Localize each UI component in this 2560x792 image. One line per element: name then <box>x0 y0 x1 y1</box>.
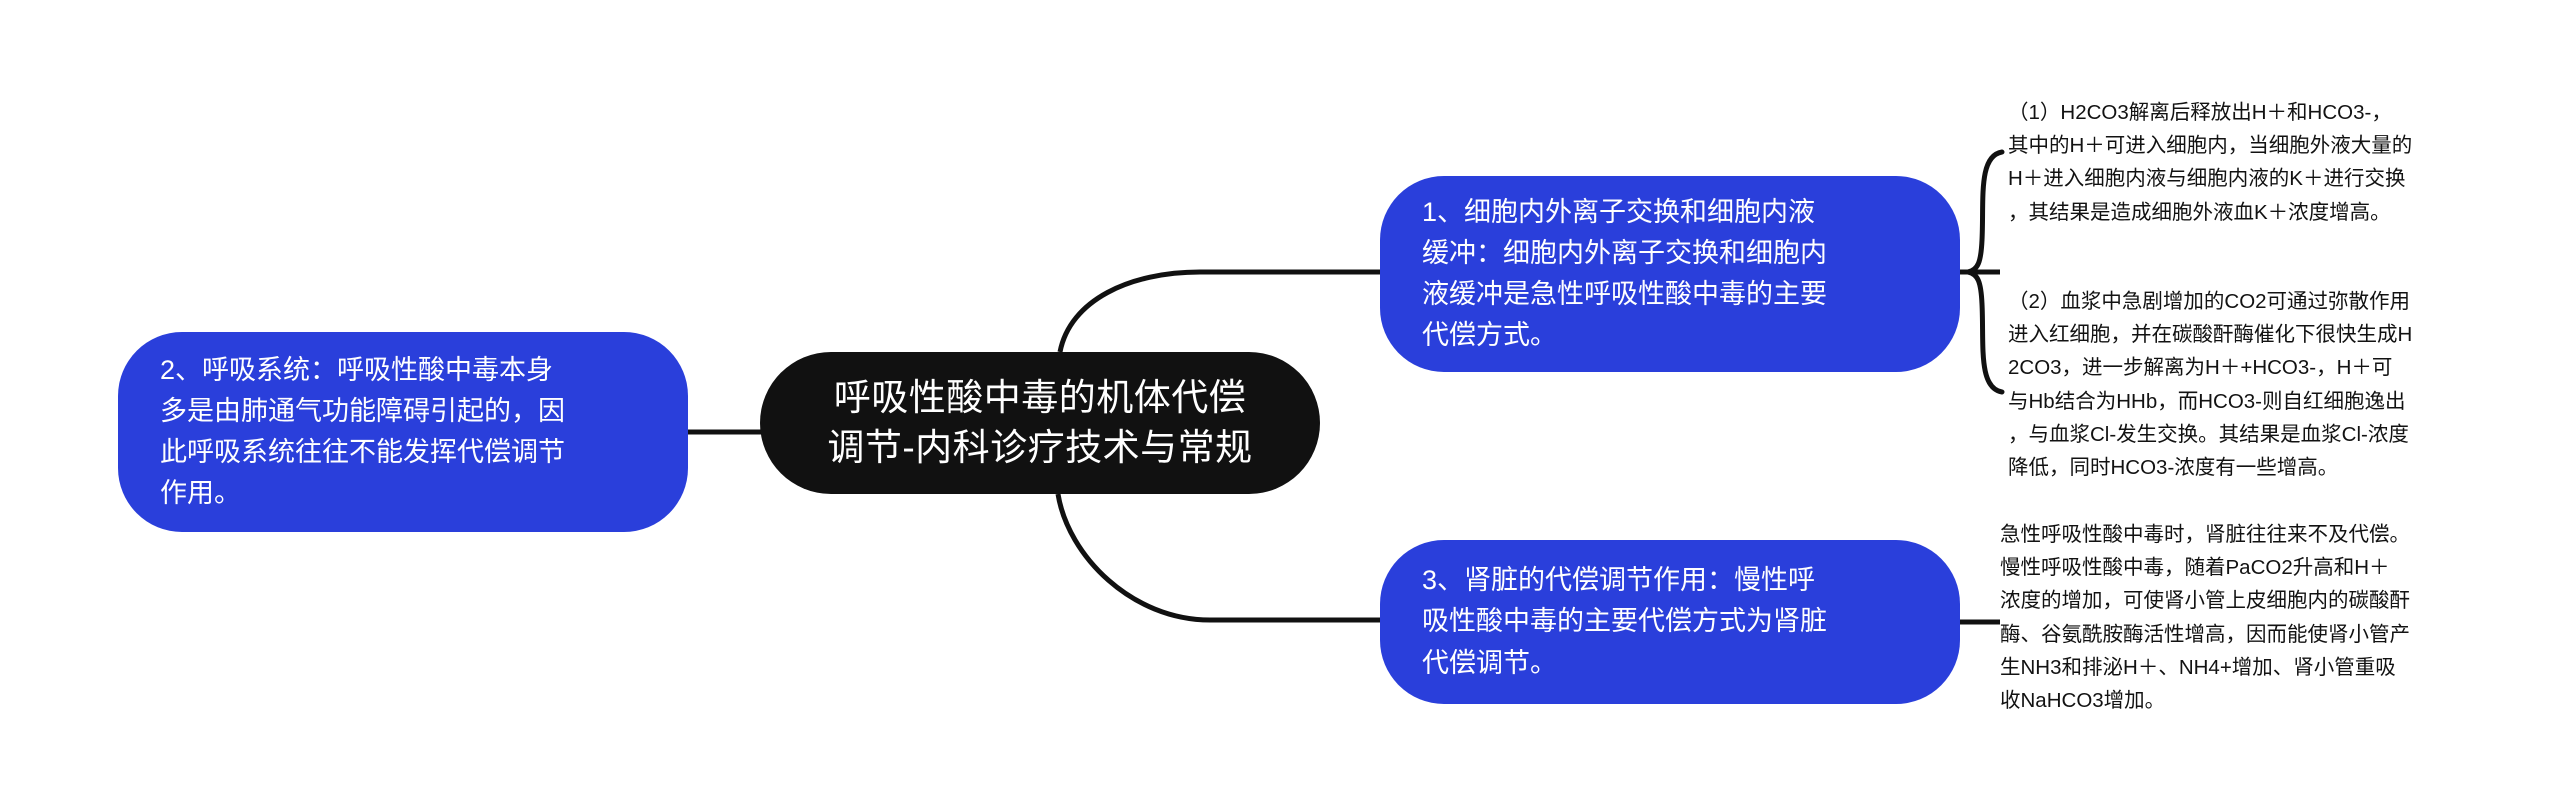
edge-root-to-branch-1 <box>1060 272 1384 352</box>
branch-node-renal-compensation-label: 3、肾脏的代偿调节作用：慢性呼 吸性酸中毒的主要代偿方式为肾脏 代偿调节。 <box>1422 560 1918 683</box>
mindmap-canvas: 呼吸性酸中毒的机体代偿 调节-内科诊疗技术与常规 2、呼吸系统：呼吸性酸中毒本身… <box>0 0 2560 792</box>
root-node[interactable]: 呼吸性酸中毒的机体代偿 调节-内科诊疗技术与常规 <box>760 352 1320 494</box>
branch-node-renal-compensation[interactable]: 3、肾脏的代偿调节作用：慢性呼 吸性酸中毒的主要代偿方式为肾脏 代偿调节。 <box>1380 540 1960 704</box>
root-node-label: 呼吸性酸中毒的机体代偿 调节-内科诊疗技术与常规 <box>760 373 1320 474</box>
branch-node-respiratory-system[interactable]: 2、呼吸系统：呼吸性酸中毒本身 多是由肺通气功能障碍引起的，因 此呼吸系统往往不… <box>118 332 688 532</box>
edge-brace-branch-1 <box>1968 152 2002 392</box>
leaf-text-plasma-co2-diffusion: （2）血浆中急剧增加的CO2可通过弥散作用 进入红细胞，并在碳酸酐酶催化下很快生… <box>2008 285 2528 484</box>
leaf-text-h2co3-dissociation: （1）H2CO3解离后释放出H＋和HCO3-， 其中的H＋可进入细胞内，当细胞外… <box>2008 96 2528 229</box>
leaf-text-renal-compensation-detail: 急性呼吸性酸中毒时，肾脏往往来不及代偿。 慢性呼吸性酸中毒，随着PaCO2升高和… <box>2000 518 2520 717</box>
branch-node-respiratory-system-label: 2、呼吸系统：呼吸性酸中毒本身 多是由肺通气功能障碍引起的，因 此呼吸系统往往不… <box>160 350 646 514</box>
edge-root-to-branch-3 <box>1058 494 1384 620</box>
branch-node-ion-exchange[interactable]: 1、细胞内外离子交换和细胞内液 缓冲：细胞内外离子交换和细胞内 液缓冲是急性呼吸… <box>1380 176 1960 372</box>
branch-node-ion-exchange-label: 1、细胞内外离子交换和细胞内液 缓冲：细胞内外离子交换和细胞内 液缓冲是急性呼吸… <box>1422 192 1918 356</box>
